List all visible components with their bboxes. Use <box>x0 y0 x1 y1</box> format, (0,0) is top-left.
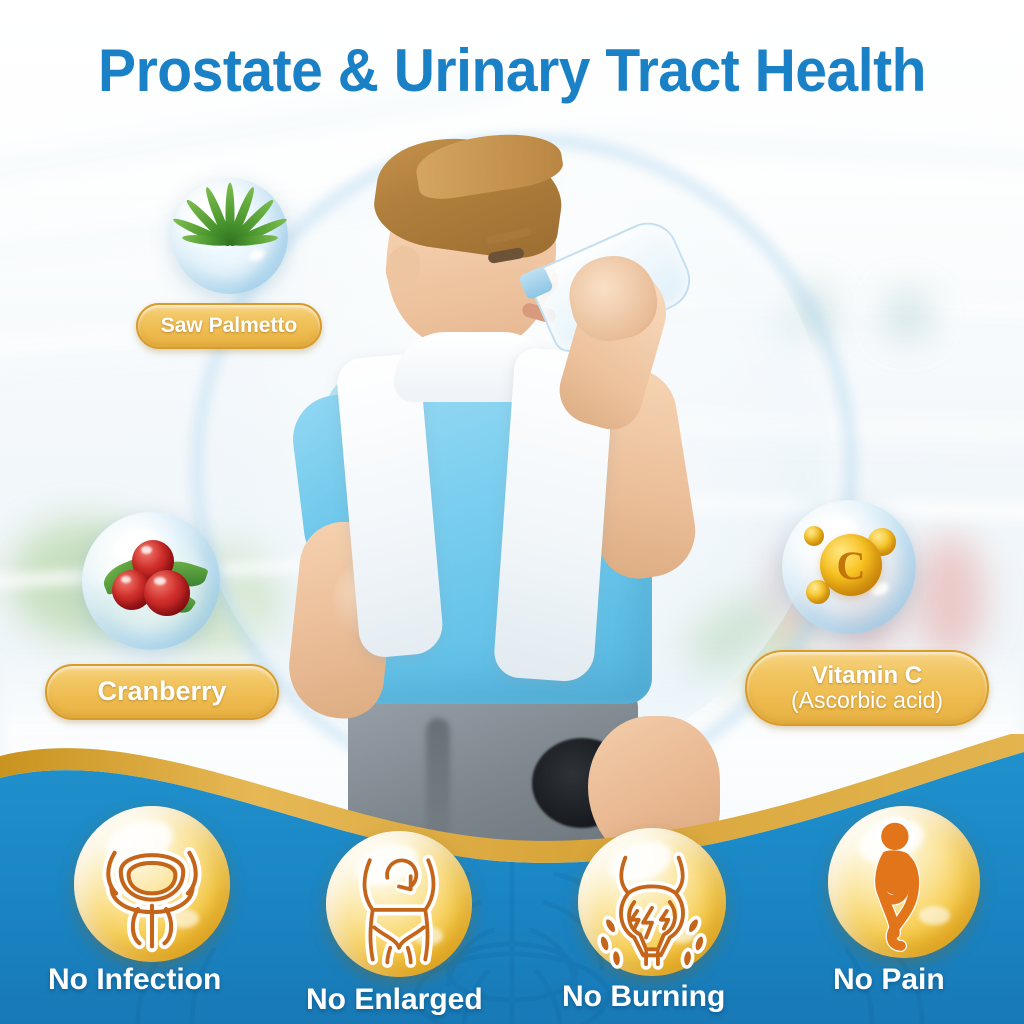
capsule-no-enlarged <box>326 831 472 977</box>
ingredient-pill-cranberry[interactable]: Cranberry <box>45 664 279 720</box>
person-torso <box>881 850 913 895</box>
capsule-no-pain <box>828 806 980 958</box>
background-blur-blob <box>886 292 928 338</box>
benefit-label-no-pain: No Pain <box>833 963 945 997</box>
benefit-label-no-burning: No Burning <box>562 980 725 1014</box>
page-title: Prostate & Urinary Tract Health <box>26 36 999 105</box>
vitamin-c-droplet-icon: C <box>782 500 916 634</box>
ingredient-pill-vitamin-c[interactable]: Vitamin C (Ascorbic acid) <box>745 650 989 726</box>
palm-frond-icon <box>172 178 288 294</box>
torso-waist-icon <box>326 831 472 977</box>
vitamin-c-letter: C <box>820 534 882 596</box>
capsule-no-burning <box>578 828 726 976</box>
person-head <box>881 823 908 850</box>
cranberry-bubble <box>82 512 220 650</box>
ingredient-label: Vitamin C <box>812 664 922 688</box>
bladder-lightning-icon <box>578 828 726 976</box>
vitamin-c-bubble: C <box>782 500 916 634</box>
capsule-no-infection <box>74 806 230 962</box>
person-holding-icon <box>828 806 980 958</box>
ingredient-label: Saw Palmetto <box>161 315 298 336</box>
benefit-label-no-enlarged: No Enlarged <box>306 983 483 1017</box>
benefit-label-no-infection: No Infection <box>48 963 221 997</box>
ingredient-label: Cranberry <box>97 678 226 706</box>
man-drinking-water-photo <box>236 118 756 838</box>
cranberry-icon <box>82 512 220 650</box>
ingredient-sublabel: (Ascorbic acid) <box>791 689 943 712</box>
prostate-anatomy-icon <box>74 806 230 962</box>
infographic-root: Prostate & Urinary Tract Health Saw Palm… <box>0 0 1024 1024</box>
saw-palmetto-bubble <box>172 178 288 294</box>
ingredient-pill-saw-palmetto[interactable]: Saw Palmetto <box>136 303 322 349</box>
